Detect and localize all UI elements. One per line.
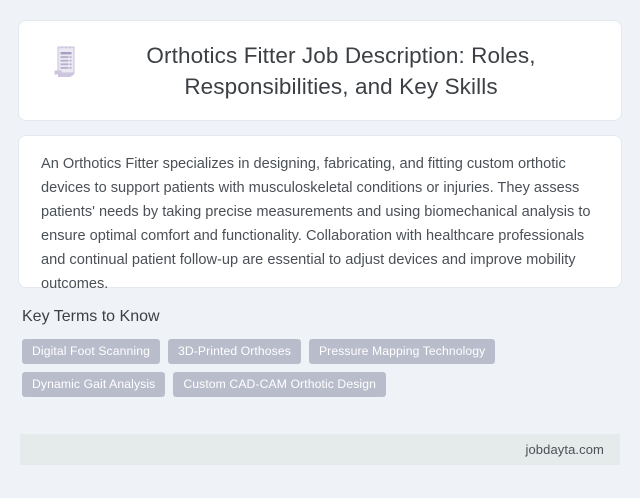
title-card: Orthotics Fitter Job Description: Roles,… bbox=[18, 20, 622, 121]
key-term-tag[interactable]: Digital Foot Scanning bbox=[22, 339, 160, 364]
page-title: Orthotics Fitter Job Description: Roles,… bbox=[95, 40, 587, 102]
receipt-icon bbox=[53, 46, 79, 78]
key-term-tag[interactable]: Dynamic Gait Analysis bbox=[22, 372, 165, 397]
key-term-tag[interactable]: Custom CAD-CAM Orthotic Design bbox=[173, 372, 386, 397]
page-root: Orthotics Fitter Job Description: Roles,… bbox=[0, 0, 640, 498]
description-text: An Orthotics Fitter specializes in desig… bbox=[41, 152, 599, 296]
footer-site-label: jobdayta.com bbox=[525, 442, 604, 458]
description-card: An Orthotics Fitter specializes in desig… bbox=[18, 135, 622, 288]
key-terms-heading: Key Terms to Know bbox=[22, 307, 620, 327]
footer-bar: jobdayta.com bbox=[20, 434, 620, 465]
key-term-tag[interactable]: Pressure Mapping Technology bbox=[309, 339, 495, 364]
key-terms-list: Digital Foot Scanning 3D-Printed Orthose… bbox=[22, 339, 620, 397]
title-row: Orthotics Fitter Job Description: Roles,… bbox=[53, 40, 587, 102]
key-term-tag[interactable]: 3D-Printed Orthoses bbox=[168, 339, 301, 364]
key-terms-section: Key Terms to Know Digital Foot Scanning … bbox=[18, 307, 622, 397]
